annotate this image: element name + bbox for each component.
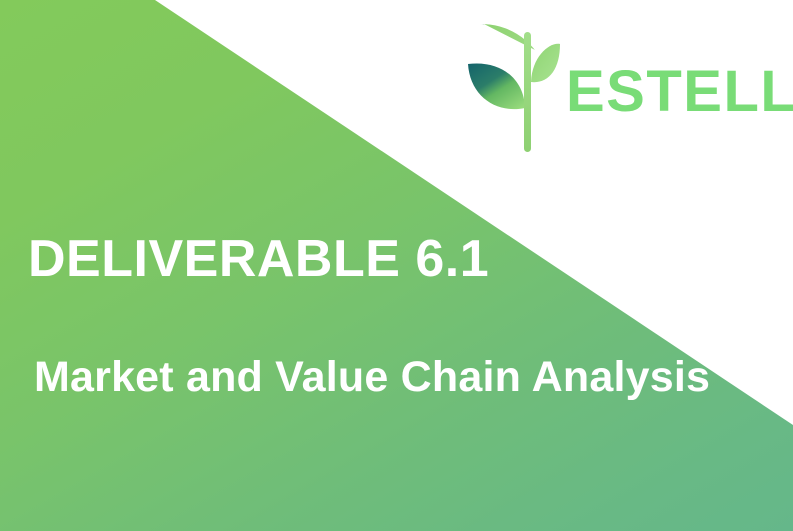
- document-subtitle: Market and Value Chain Analysis: [34, 356, 710, 399]
- logo-sprout-stem: [524, 32, 531, 152]
- document-cover-page: ESTELLA DELIVERABLE 6.1 Market and Value…: [0, 0, 793, 531]
- deliverable-title: DELIVERABLE 6.1: [28, 233, 489, 285]
- logo-sprout-leaf: [531, 43, 560, 81]
- estella-logo-icon: [408, 16, 560, 168]
- brand-wordmark: ESTELLA: [566, 63, 793, 121]
- brand-logo-lockup: ESTELLA: [408, 14, 783, 169]
